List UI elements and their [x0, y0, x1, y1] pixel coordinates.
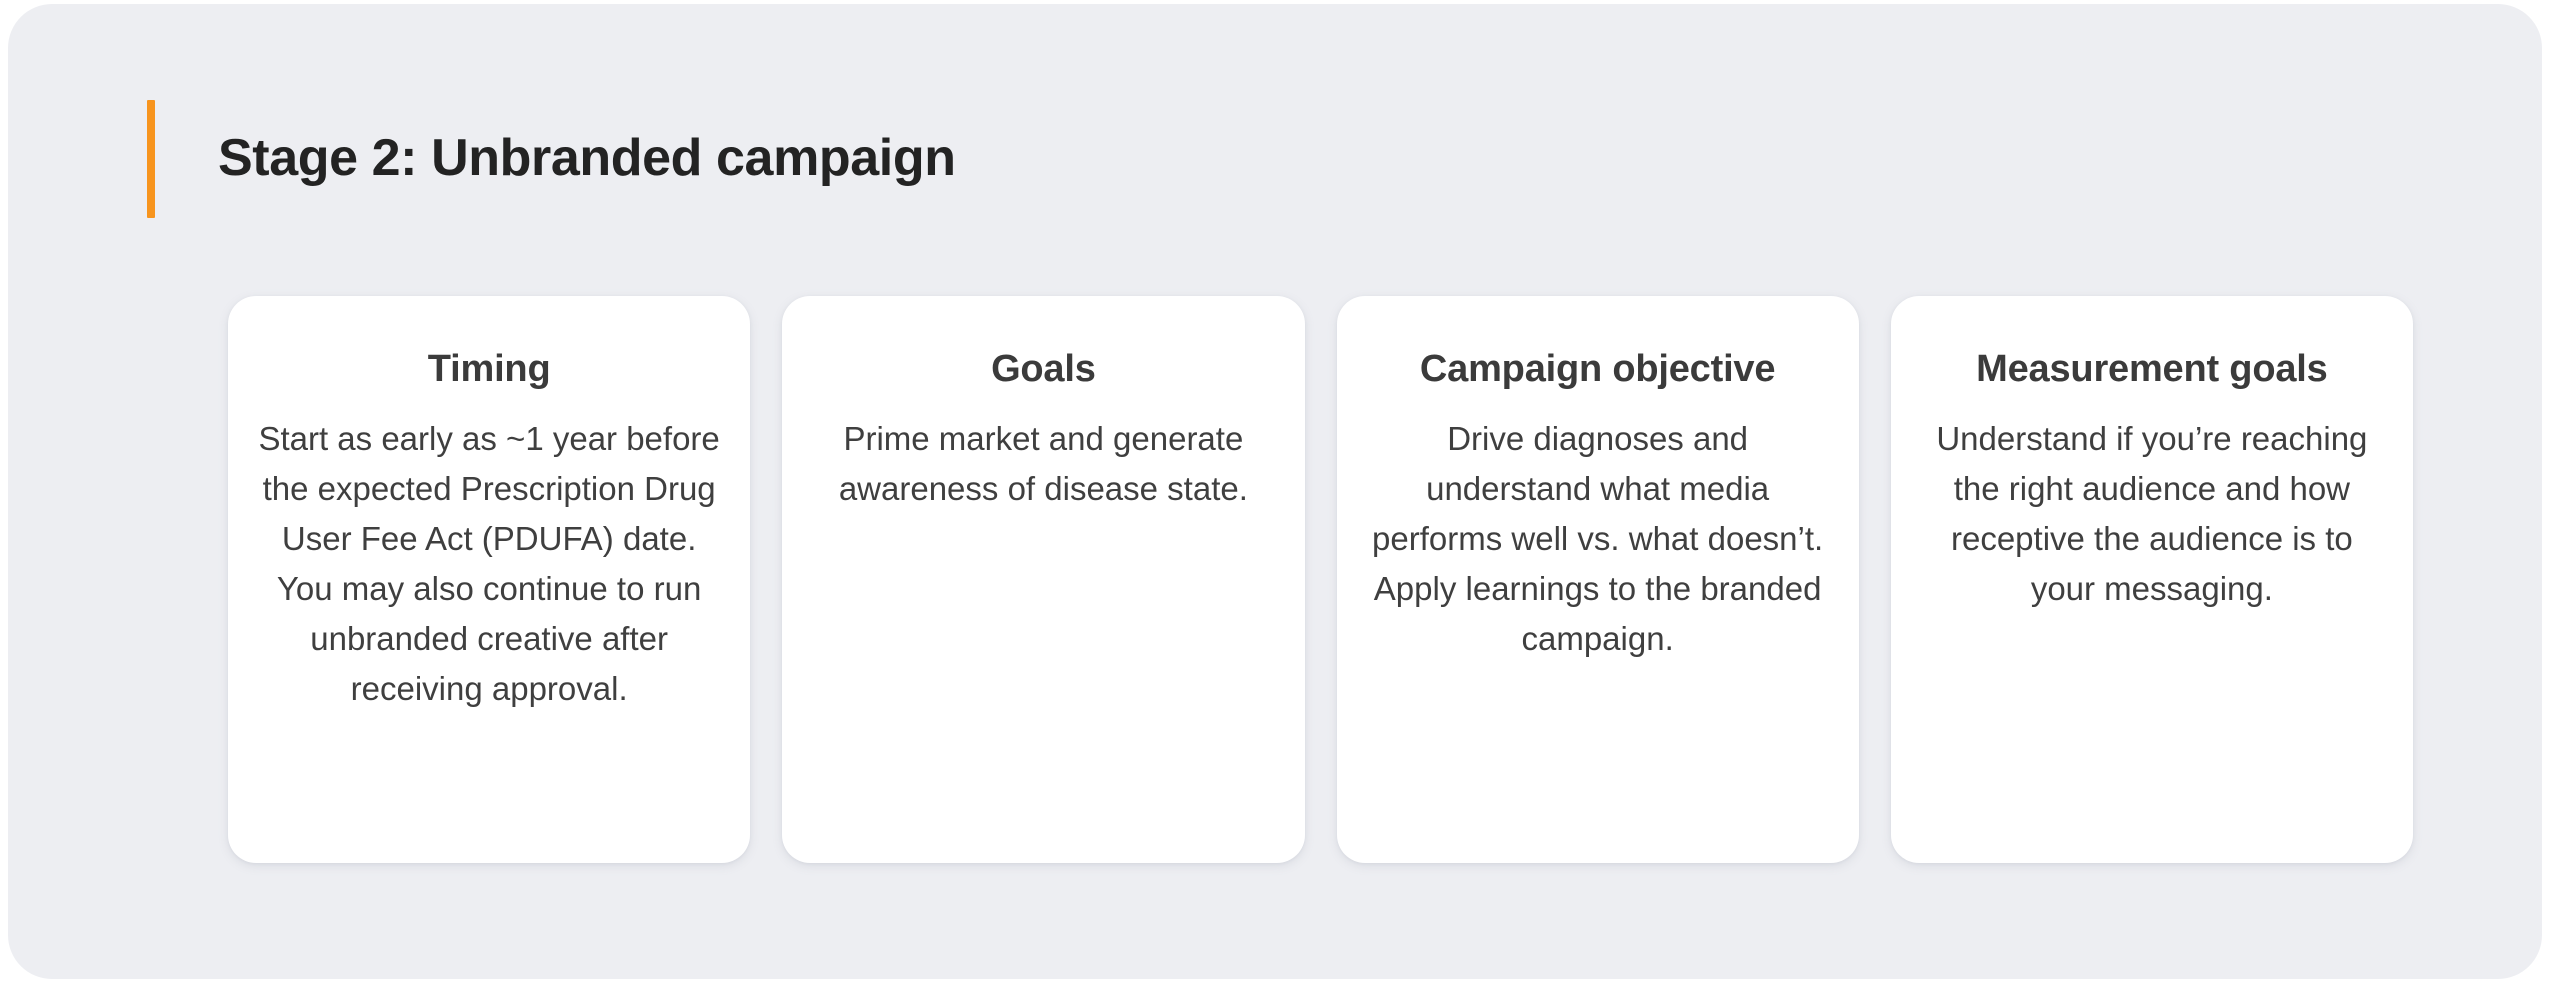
card-campaign-objective: Campaign objective Drive diagnoses and u…: [1337, 296, 1859, 863]
card-title: Timing: [428, 348, 551, 392]
card-title: Campaign objective: [1420, 348, 1775, 392]
stage-header: Stage 2: Unbranded campaign: [147, 100, 956, 218]
card-body: Understand if you’re reaching the right …: [1917, 414, 2387, 614]
card-timing: Timing Start as early as ~1 year before …: [228, 296, 750, 863]
stage-panel: Stage 2: Unbranded campaign Timing Start…: [8, 4, 2542, 979]
card-title: Goals: [991, 348, 1096, 392]
card-body: Start as early as ~1 year before the exp…: [254, 414, 724, 714]
card-body: Prime market and generate awareness of d…: [808, 414, 1278, 514]
card-measurement-goals: Measurement goals Understand if you’re r…: [1891, 296, 2413, 863]
card-body: Drive diagnoses and understand what medi…: [1363, 414, 1833, 664]
card-grid: Timing Start as early as ~1 year before …: [228, 296, 2413, 863]
accent-bar-icon: [147, 100, 155, 218]
card-title: Measurement goals: [1976, 348, 2327, 392]
page-title: Stage 2: Unbranded campaign: [218, 130, 956, 187]
card-goals: Goals Prime market and generate awarenes…: [782, 296, 1304, 863]
